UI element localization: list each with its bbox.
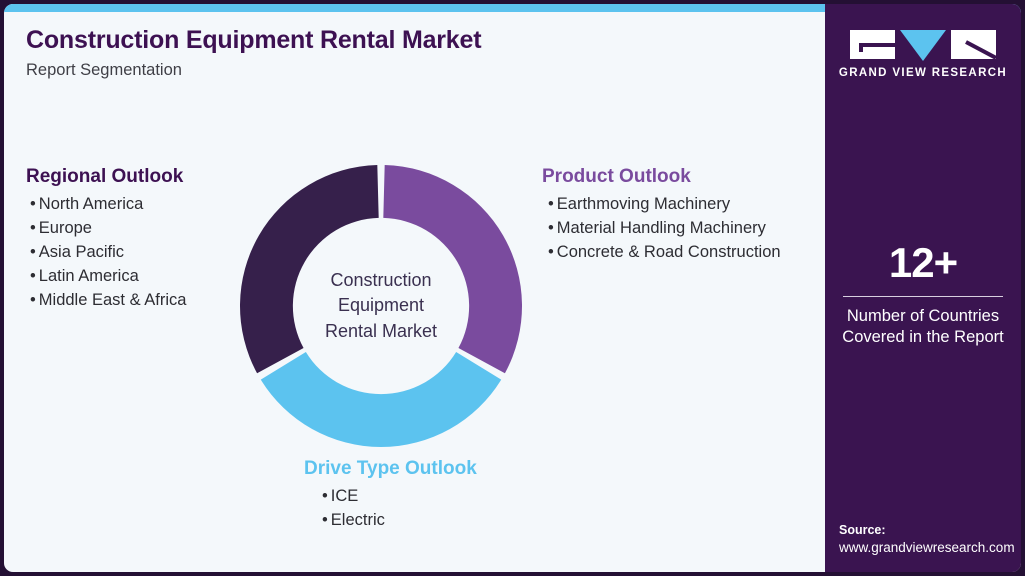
- bullet-icon: •: [322, 487, 328, 505]
- list-item-label: Europe: [39, 219, 92, 237]
- list-item: •Earthmoving Machinery: [548, 192, 781, 216]
- header: Construction Equipment Rental Market Rep…: [26, 26, 766, 81]
- source-url[interactable]: www.grandviewresearch.com: [839, 539, 1021, 558]
- bullet-icon: •: [548, 219, 554, 237]
- list-item-label: Electric: [331, 511, 385, 529]
- stat-label-line2: Covered in the Report: [825, 327, 1021, 348]
- list-item: •North America: [30, 192, 186, 216]
- list-item: •Middle East & Africa: [30, 288, 186, 312]
- regional-outlook-list: •North America •Europe •Asia Pacific •La…: [26, 192, 186, 312]
- report-card: Construction Equipment Rental Market Rep…: [4, 4, 1021, 572]
- bullet-icon: •: [548, 243, 554, 261]
- donut-segment[interactable]: [383, 165, 522, 373]
- infographic-screen: Construction Equipment Rental Market Rep…: [0, 0, 1025, 576]
- donut-segment[interactable]: [261, 352, 501, 447]
- drivetype-outlook-list: •ICE •Electric: [300, 484, 477, 532]
- source-title: Source:: [839, 522, 1021, 540]
- list-item: •Electric: [322, 508, 477, 532]
- list-item-label: Middle East & Africa: [39, 291, 187, 309]
- drivetype-outlook-title: Drive Type Outlook: [300, 458, 477, 481]
- list-item-label: Latin America: [39, 267, 139, 285]
- product-outlook-block: Product Outlook •Earthmoving Machinery •…: [542, 166, 781, 264]
- gvr-logo: GRAND VIEW RESEARCH: [825, 30, 1021, 79]
- list-item-label: Asia Pacific: [39, 243, 124, 261]
- bullet-icon: •: [30, 291, 36, 309]
- list-item: •ICE: [322, 484, 477, 508]
- drivetype-outlook-block: Drive Type Outlook •ICE •Electric: [300, 458, 477, 532]
- bullet-icon: •: [322, 511, 328, 529]
- product-outlook-title: Product Outlook: [542, 166, 781, 189]
- list-item: •Latin America: [30, 264, 186, 288]
- bullet-icon: •: [30, 219, 36, 237]
- logo-g-icon: [850, 30, 895, 59]
- country-stat-block: 12+ Number of Countries Covered in the R…: [825, 242, 1021, 348]
- list-item-label: Concrete & Road Construction: [557, 243, 781, 261]
- list-item-label: ICE: [331, 487, 359, 505]
- stat-value: 12+: [825, 242, 1021, 284]
- list-item: •Asia Pacific: [30, 240, 186, 264]
- list-item-label: Material Handling Machinery: [557, 219, 766, 237]
- page-title: Construction Equipment Rental Market: [26, 26, 766, 55]
- donut-chart: Construction Equipment Rental Market: [240, 165, 522, 447]
- logo-marks: [825, 30, 1021, 59]
- list-item: •Europe: [30, 216, 186, 240]
- brand-panel: GRAND VIEW RESEARCH 12+ Number of Countr…: [825, 4, 1021, 572]
- page-subtitle: Report Segmentation: [26, 61, 766, 81]
- source-block: Source: www.grandviewresearch.com: [839, 522, 1021, 558]
- bullet-icon: •: [30, 243, 36, 261]
- list-item-label: Earthmoving Machinery: [557, 195, 730, 213]
- logo-wordmark: GRAND VIEW RESEARCH: [825, 67, 1021, 79]
- product-outlook-list: •Earthmoving Machinery •Material Handlin…: [542, 192, 781, 264]
- donut-segment[interactable]: [240, 165, 379, 373]
- stat-label-line1: Number of Countries: [825, 306, 1021, 327]
- regional-outlook-block: Regional Outlook •North America •Europe …: [26, 166, 186, 312]
- bullet-icon: •: [30, 267, 36, 285]
- list-item: •Concrete & Road Construction: [548, 240, 781, 264]
- donut-chart-svg: [240, 165, 522, 447]
- logo-r-icon: [951, 30, 996, 59]
- bullet-icon: •: [548, 195, 554, 213]
- stat-divider: [843, 296, 1003, 297]
- regional-outlook-title: Regional Outlook: [26, 166, 186, 189]
- bullet-icon: •: [30, 195, 36, 213]
- list-item: •Material Handling Machinery: [548, 216, 781, 240]
- logo-v-triangle-icon: [900, 30, 946, 61]
- list-item-label: North America: [39, 195, 144, 213]
